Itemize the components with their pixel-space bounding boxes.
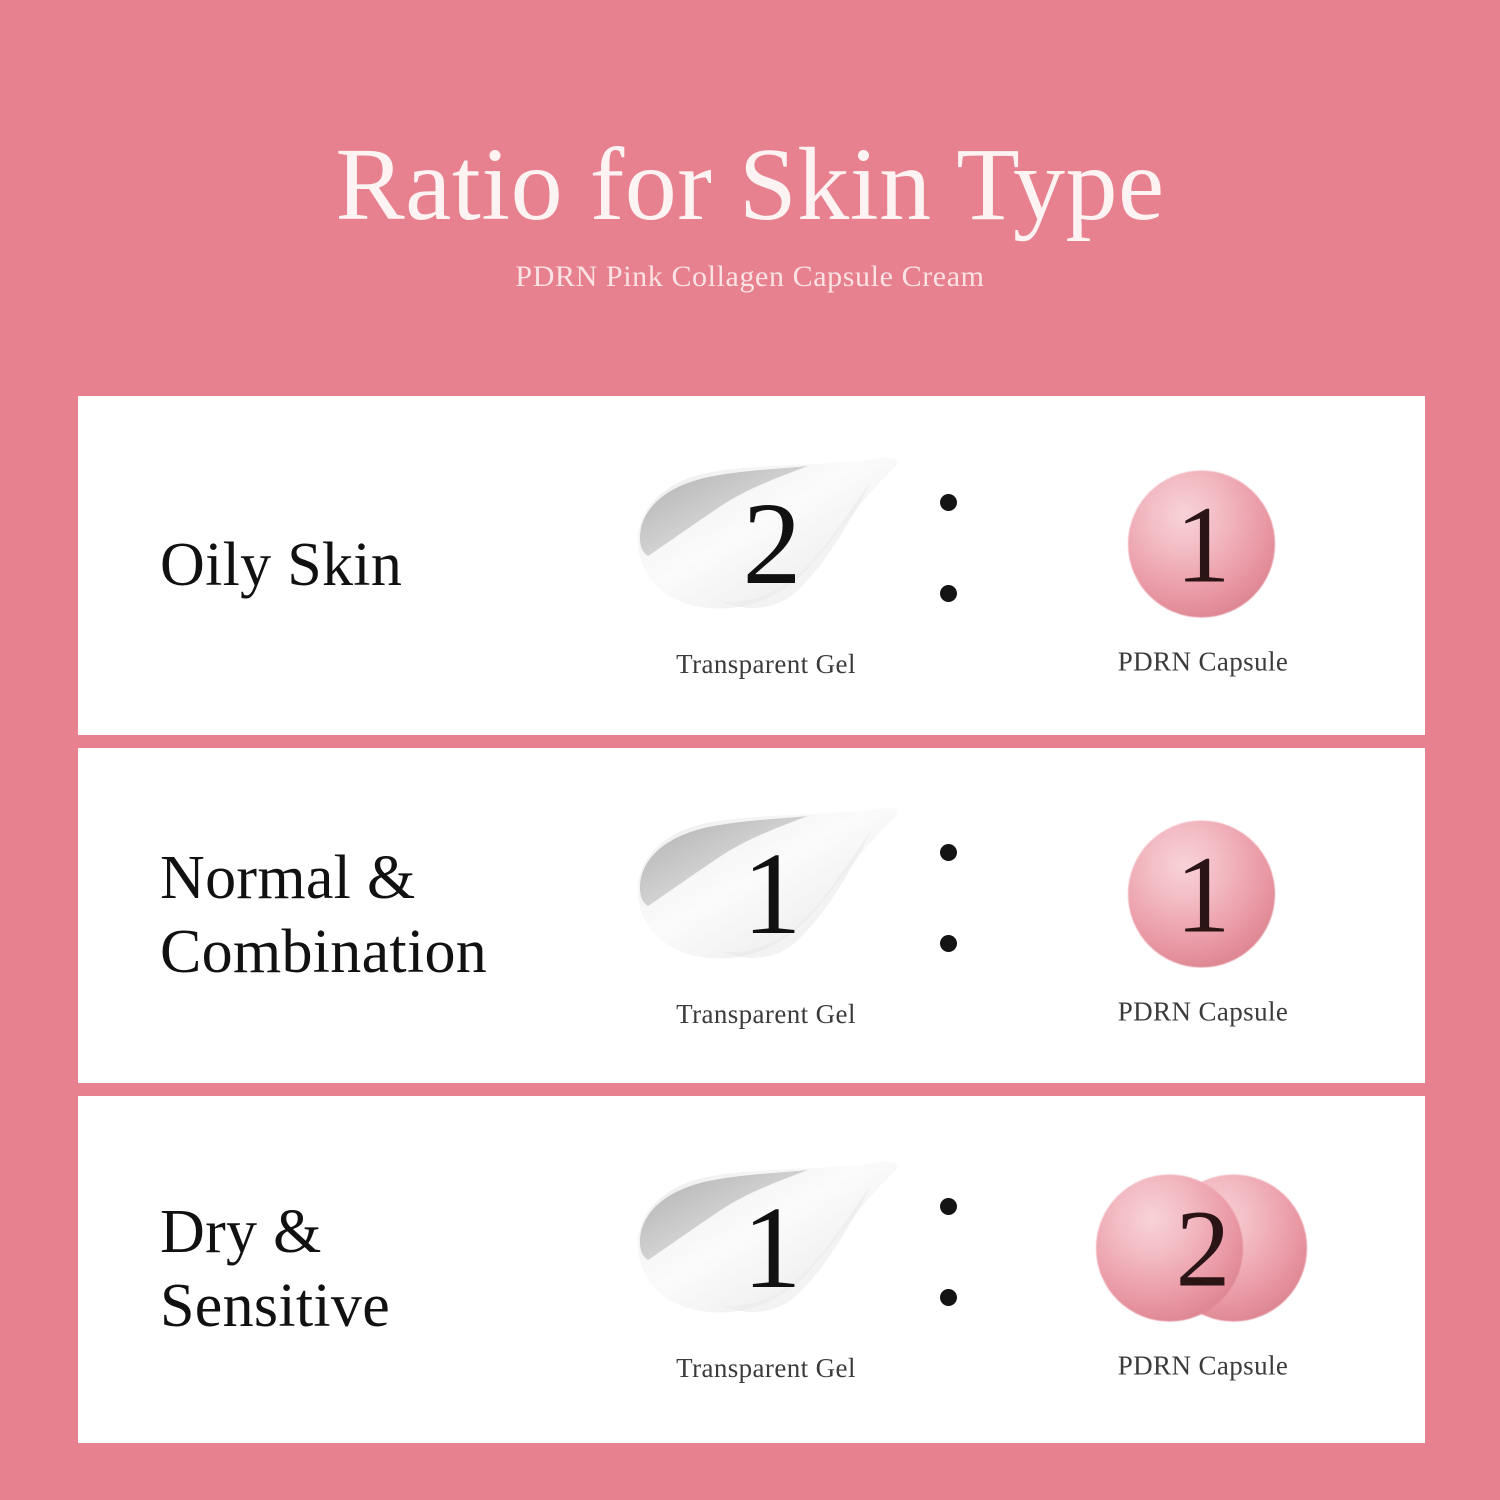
- page-title: Ratio for Skin Type: [0, 0, 1500, 238]
- transparent-gel-block: 1 Transparent Gel: [606, 1156, 926, 1384]
- ratio-row: Dry & Sensitive: [78, 1096, 1425, 1443]
- skin-type-line-2: Combination: [160, 916, 598, 989]
- page-header: Ratio for Skin Type PDRN Pink Collagen C…: [0, 0, 1500, 396]
- pdrn-capsule-block: 1 PDRN Capsule: [1038, 804, 1368, 1027]
- capsule-amount: 2: [1078, 1158, 1390, 1338]
- capsule-caption: PDRN Capsule: [1038, 1350, 1368, 1381]
- colon-dot-top: [940, 844, 957, 861]
- ratio-row: Normal & Combination: [78, 748, 1425, 1083]
- gel-swatch-visual: 1: [626, 802, 906, 987]
- gel-caption: Transparent Gel: [606, 999, 926, 1030]
- skin-type-line-1: Oily Skin: [160, 531, 402, 599]
- page-subtitle: PDRN Pink Collagen Capsule Cream: [0, 238, 1500, 294]
- skin-type-label: Oily Skin: [78, 529, 598, 602]
- pdrn-capsule-block: 2 PDRN Capsule: [1038, 1158, 1368, 1381]
- colon-dot-bottom: [940, 585, 957, 602]
- capsule-amount: 1: [1078, 454, 1328, 634]
- capsule-visual: 1: [1078, 454, 1328, 634]
- row-divider: [78, 1083, 1425, 1096]
- skin-type-label: Normal & Combination: [78, 842, 598, 988]
- transparent-gel-block: 2 Transparent Gel: [606, 452, 926, 680]
- colon-dot-top: [940, 1198, 957, 1215]
- ratio-area: 2 Transparent Gel 1 PDRN Capsule: [598, 396, 1425, 735]
- gel-swatch-visual: 1: [626, 1156, 906, 1341]
- gel-amount: 2: [626, 452, 906, 637]
- skin-type-label: Dry & Sensitive: [78, 1196, 598, 1342]
- ratio-separator: [928, 844, 968, 952]
- skin-type-line-1: Dry &: [160, 1198, 322, 1266]
- transparent-gel-block: 1 Transparent Gel: [606, 802, 926, 1030]
- gel-caption: Transparent Gel: [606, 649, 926, 680]
- ratio-row: Oily Skin: [78, 396, 1425, 735]
- ratio-area: 1 Transparent Gel 2 PDRN Capsule: [598, 1096, 1425, 1443]
- ratio-area: 1 Transparent Gel 1 PDRN Capsule: [598, 748, 1425, 1083]
- capsule-visual: 2: [1078, 1158, 1328, 1338]
- skin-type-line-1: Normal &: [160, 844, 416, 912]
- gel-caption: Transparent Gel: [606, 1353, 926, 1384]
- gel-swatch-visual: 2: [626, 452, 906, 637]
- colon-dot-bottom: [940, 935, 957, 952]
- ratio-separator: [928, 1198, 968, 1306]
- capsule-caption: PDRN Capsule: [1038, 646, 1368, 677]
- capsule-visual: 1: [1078, 804, 1328, 984]
- capsule-caption: PDRN Capsule: [1038, 996, 1368, 1027]
- gel-amount: 1: [626, 802, 906, 987]
- ratio-separator: [928, 494, 968, 602]
- colon-dot-top: [940, 494, 957, 511]
- ratio-card-stack: Oily Skin: [78, 396, 1425, 1443]
- gel-amount: 1: [626, 1156, 906, 1341]
- skin-type-line-2: Sensitive: [160, 1270, 598, 1343]
- row-divider: [78, 735, 1425, 748]
- capsule-amount: 1: [1078, 804, 1328, 984]
- pdrn-capsule-block: 1 PDRN Capsule: [1038, 454, 1368, 677]
- colon-dot-bottom: [940, 1289, 957, 1306]
